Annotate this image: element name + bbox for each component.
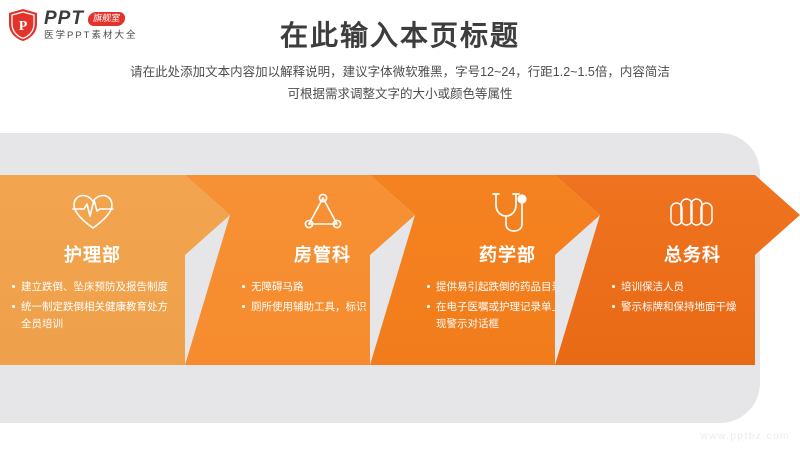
list-item: 建立跌倒、坠床预防及报告制度 xyxy=(12,279,175,295)
process-step-title: 总务科 xyxy=(600,241,785,267)
list-item: 统一制定跌倒相关健康教育处方全员培训 xyxy=(12,299,175,332)
page-title: 在此输入本页标题 xyxy=(0,14,800,54)
process-step-bullets: 培训保洁人员 警示标牌和保持地面干燥 xyxy=(600,279,785,316)
stethoscope-icon xyxy=(415,189,600,235)
list-item: 在电子医嘱或护理记录单上，出现警示对话框 xyxy=(427,299,590,332)
process-step-title: 药学部 xyxy=(415,241,600,267)
subtitle-line-2: 可根据需求调整文字的大小或颜色等属性 xyxy=(0,84,800,106)
subtitle-line-1: 请在此处添加文本内容加以解释说明，建议字体微软雅黑，字号12~24，行距1.2~… xyxy=(0,62,800,84)
page-subtitle: 请在此处添加文本内容加以解释说明，建议字体微软雅黑，字号12~24，行距1.2~… xyxy=(0,62,800,106)
list-item: 提供易引起跌倒的药品目录 xyxy=(427,279,590,295)
people-group-icon xyxy=(600,189,785,235)
process-step-bullets: 建立跌倒、坠床预防及报告制度 统一制定跌倒相关健康教育处方全员培训 xyxy=(0,279,185,332)
list-item: 培训保洁人员 xyxy=(612,279,775,295)
process-step-title: 房管科 xyxy=(230,241,415,267)
list-item: 厕所使用辅助工具，标识 xyxy=(242,299,405,315)
heart-pulse-icon xyxy=(0,189,185,235)
process-step-title: 护理部 xyxy=(0,241,185,267)
process-step-4[interactable]: 总务科 培训保洁人员 警示标牌和保持地面干燥 xyxy=(555,175,800,365)
process-arrow-band: 护理部 建立跌倒、坠床预防及报告制度 统一制定跌倒相关健康教育处方全员培训 房管… xyxy=(0,175,800,365)
watermark: www.pptbz.com xyxy=(700,431,790,442)
list-item: 警示标牌和保持地面干燥 xyxy=(612,299,775,315)
triangle-network-icon xyxy=(230,189,415,235)
list-item: 无障碍马路 xyxy=(242,279,405,295)
